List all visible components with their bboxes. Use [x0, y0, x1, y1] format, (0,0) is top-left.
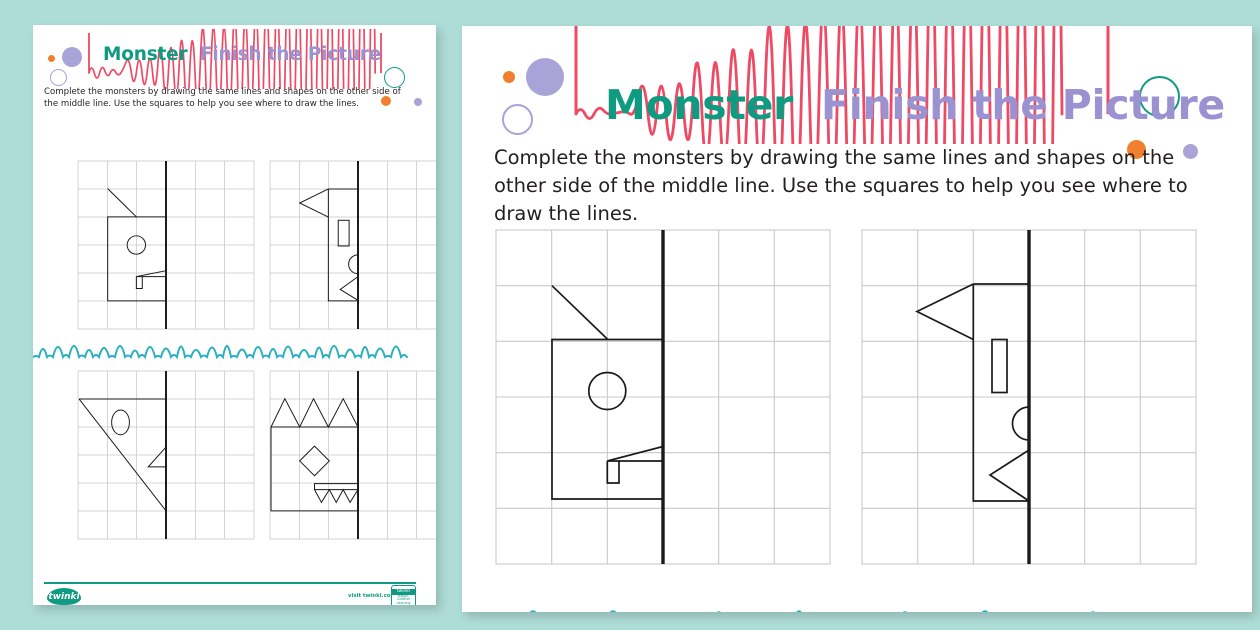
- small-orange-dot-icon: [503, 71, 515, 83]
- page-title-part1: Monster: [103, 44, 194, 65]
- teal-wavy-divider-icon: [33, 331, 436, 365]
- monster-grid-1[interactable]: [77, 160, 255, 330]
- purple-ring-icon: [50, 69, 67, 86]
- twinkl-badge: twinkl Happy, Creative Learning: [391, 585, 416, 605]
- large-purple-dot-icon: [62, 47, 82, 67]
- teal-ring-icon: [384, 67, 405, 88]
- page-title: Monster Finish the Picture: [605, 81, 1225, 129]
- page-title-part1: Monster: [605, 81, 807, 129]
- large-purple-dot-icon: [526, 58, 564, 96]
- visit-link[interactable]: visit twinkl.com: [348, 593, 396, 599]
- twinkl-logo[interactable]: twinkl: [47, 588, 81, 605]
- page-title-part2: Finish the Picture: [821, 81, 1225, 129]
- monster-grid-1[interactable]: [495, 229, 831, 565]
- thumbnail-page[interactable]: Monster Finish the Picture Complete the …: [33, 25, 436, 605]
- monster-grid-2[interactable]: [269, 160, 436, 330]
- monster-grid-3[interactable]: [77, 370, 255, 540]
- teal-wavy-divider-icon: [462, 586, 1252, 612]
- instructions-text: Complete the monsters by drawing the sam…: [494, 144, 1194, 228]
- footer-divider: [44, 582, 416, 584]
- main-page[interactable]: Monster Finish the Picture Complete the …: [462, 26, 1252, 612]
- purple-ring-icon: [502, 104, 533, 135]
- monster-grid-4[interactable]: [269, 370, 436, 540]
- page-title-part2: Finish the Picture: [200, 44, 381, 65]
- instructions-text: Complete the monsters by drawing the sam…: [44, 87, 416, 110]
- monster-grid-2[interactable]: [861, 229, 1197, 565]
- small-orange-dot-icon: [48, 55, 55, 62]
- badge-bottom-text: Happy, Creative Learning: [392, 595, 415, 605]
- page-title: Monster Finish the Picture: [103, 44, 381, 65]
